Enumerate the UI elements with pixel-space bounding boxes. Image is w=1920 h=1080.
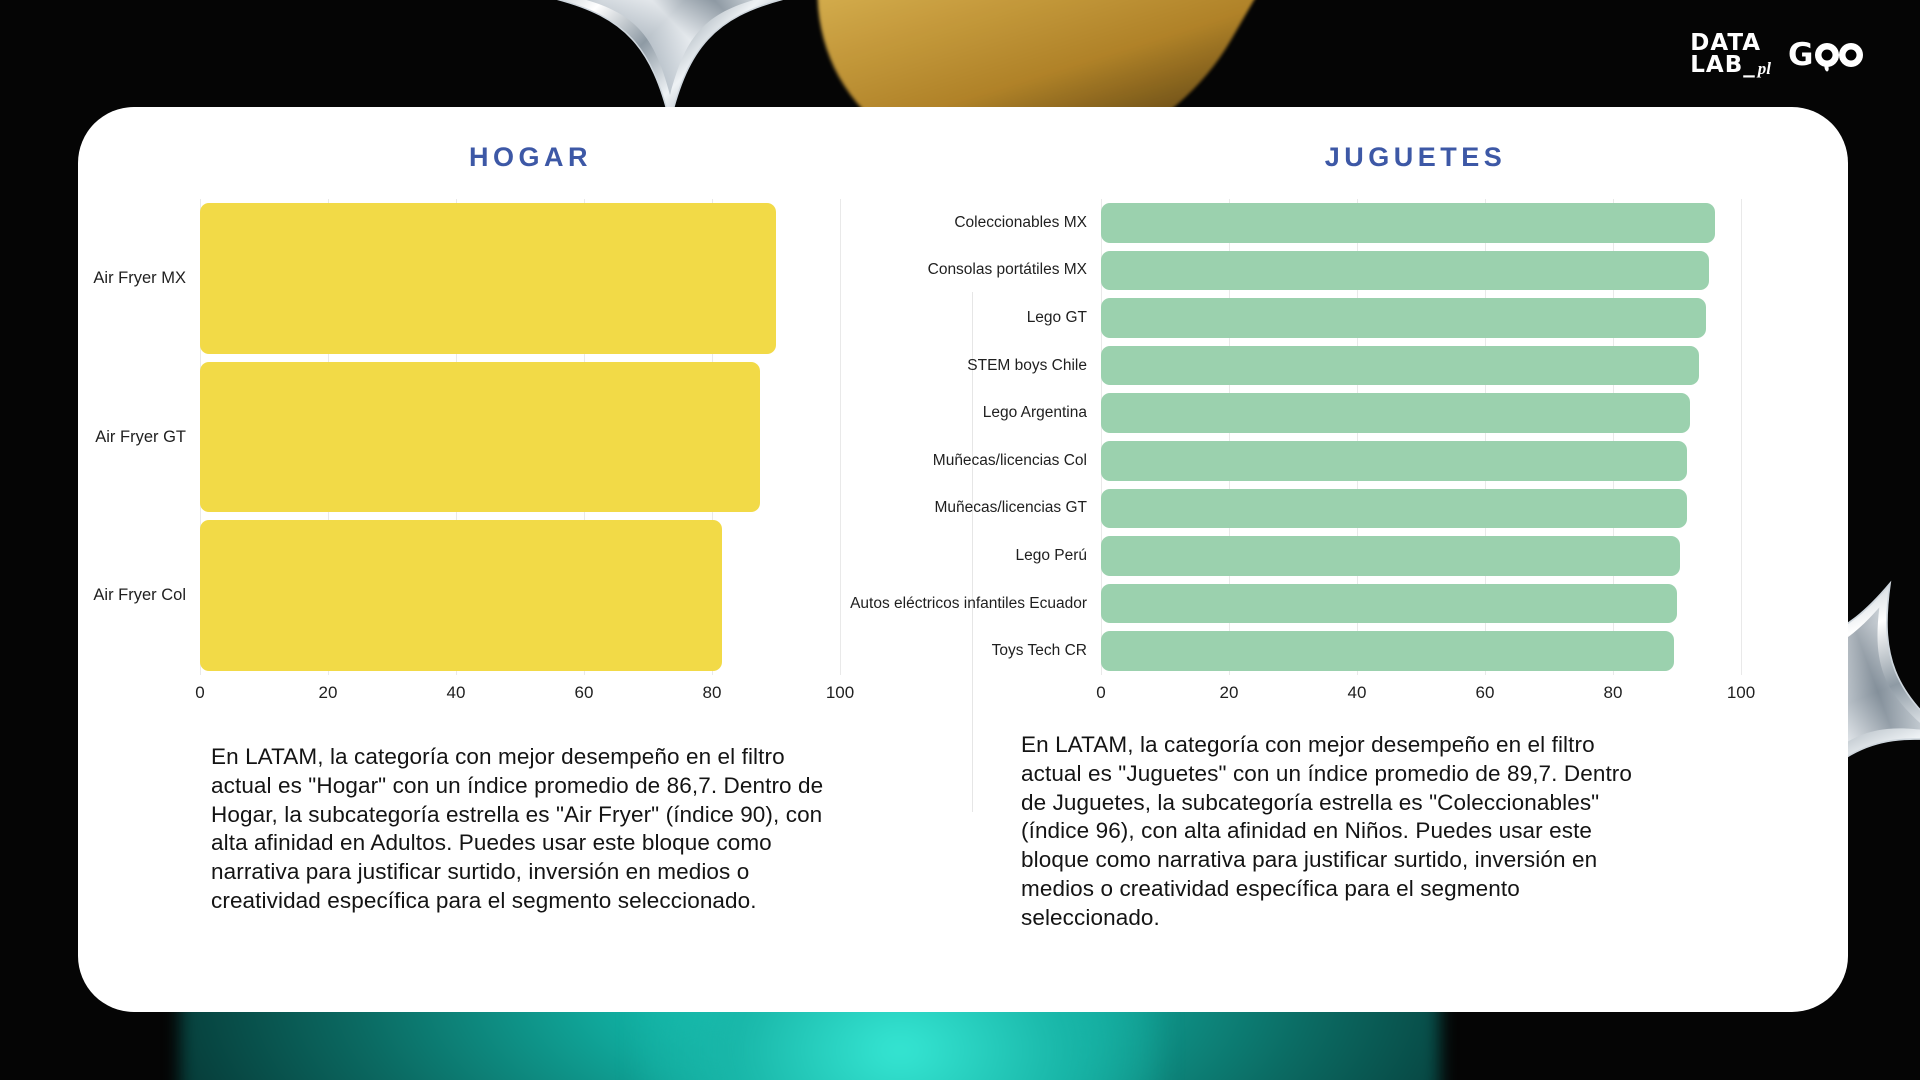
bar-juguetes[interactable] [1101, 298, 1706, 338]
bar-row[interactable]: Lego Perú [1101, 532, 1741, 580]
bar-juguetes[interactable] [1101, 251, 1709, 291]
bar-rows-hogar: Air Fryer MXAir Fryer GTAir Fryer Col [200, 199, 840, 675]
bar-category-label: Toys Tech CR [992, 642, 1087, 660]
bar-row[interactable]: Consolas portátiles MX [1101, 247, 1741, 295]
datalab-logo-line2-group: LAB_ pl [1690, 55, 1771, 77]
x-axis-tick-label: 40 [447, 683, 466, 703]
bar-row[interactable]: Coleccionables MX [1101, 199, 1741, 247]
x-axis-tick-label: 100 [1727, 683, 1755, 703]
bar-row[interactable]: Lego Argentina [1101, 389, 1741, 437]
bar-row[interactable]: Air Fryer MX [200, 199, 840, 358]
bar-hogar[interactable] [200, 203, 776, 354]
content-card: HOGAR Air Fryer MXAir Fryer GTAir Fryer … [78, 107, 1848, 1012]
datalab-logo: DATA LAB_ pl [1690, 33, 1771, 77]
bar-category-label: Coleccionables MX [954, 214, 1087, 232]
bar-category-label: Air Fryer MX [93, 269, 186, 288]
datalab-logo-line2: LAB_ [1690, 55, 1756, 77]
gridline [840, 199, 841, 675]
narrative-hogar: En LATAM, la categoría con mejor desempe… [211, 743, 841, 916]
chart-title-juguetes: JUGUETES [983, 142, 1848, 173]
bar-juguetes[interactable] [1101, 536, 1680, 576]
bar-row[interactable]: Autos eléctricos infantiles Ecuador [1101, 580, 1741, 628]
bar-row[interactable]: Air Fryer Col [200, 516, 840, 675]
bar-category-label: Consolas portátiles MX [928, 261, 1087, 279]
bar-juguetes[interactable] [1101, 203, 1715, 243]
chart-title-hogar: HOGAR [78, 142, 983, 173]
gridline [1741, 199, 1742, 675]
brand-logo: DATA LAB_ pl G [1690, 33, 1864, 77]
svg-text:G: G [1788, 38, 1813, 72]
x-axis-hogar: 020406080100 [200, 675, 840, 709]
x-axis-tick-label: 20 [1220, 683, 1239, 703]
x-axis-tick-label: 80 [1604, 683, 1623, 703]
bar-rows-juguetes: Coleccionables MXConsolas portátiles MXL… [1101, 199, 1741, 675]
bar-category-label: Autos eléctricos infantiles Ecuador [850, 595, 1087, 613]
bar-juguetes[interactable] [1101, 584, 1677, 624]
bar-category-label: STEM boys Chile [967, 357, 1087, 375]
x-axis-tick-label: 60 [575, 683, 594, 703]
bar-category-label: Muñecas/licencias GT [935, 499, 1087, 517]
bar-category-label: Lego Argentina [983, 404, 1087, 422]
bar-juguetes[interactable] [1101, 489, 1687, 529]
bar-category-label: Lego GT [1027, 309, 1087, 327]
bar-hogar[interactable] [200, 520, 722, 671]
panel-juguetes: JUGUETES Coleccionables MXConsolas portá… [983, 107, 1848, 1012]
panel-hogar: HOGAR Air Fryer MXAir Fryer GTAir Fryer … [78, 107, 983, 1012]
bar-category-label: Lego Perú [1015, 547, 1087, 565]
goo-logo-icon: G [1788, 38, 1864, 72]
bar-row[interactable]: STEM boys Chile [1101, 342, 1741, 390]
datalab-logo-suffix: pl [1758, 61, 1771, 77]
bar-row[interactable]: Toys Tech CR [1101, 627, 1741, 675]
chart-hogar: Air Fryer MXAir Fryer GTAir Fryer Col 02… [200, 199, 840, 709]
x-axis-tick-label: 0 [1096, 683, 1105, 703]
x-axis-tick-label: 100 [826, 683, 854, 703]
x-axis-juguetes: 020406080100 [1101, 675, 1741, 709]
x-axis-tick-label: 0 [195, 683, 204, 703]
bar-juguetes[interactable] [1101, 346, 1699, 386]
x-axis-tick-label: 40 [1348, 683, 1367, 703]
bar-category-label: Muñecas/licencias Col [933, 452, 1087, 470]
bar-row[interactable]: Muñecas/licencias GT [1101, 485, 1741, 533]
x-axis-tick-label: 20 [319, 683, 338, 703]
bar-category-label: Air Fryer GT [95, 428, 186, 447]
chart-juguetes: Coleccionables MXConsolas portátiles MXL… [1101, 199, 1741, 709]
bar-juguetes[interactable] [1101, 631, 1674, 671]
bar-juguetes[interactable] [1101, 393, 1690, 433]
bar-juguetes[interactable] [1101, 441, 1687, 481]
x-axis-tick-label: 80 [703, 683, 722, 703]
bar-category-label: Air Fryer Col [93, 586, 186, 605]
bar-row[interactable]: Muñecas/licencias Col [1101, 437, 1741, 485]
bar-row[interactable]: Air Fryer GT [200, 358, 840, 517]
bar-hogar[interactable] [200, 362, 760, 513]
bar-row[interactable]: Lego GT [1101, 294, 1741, 342]
narrative-juguetes: En LATAM, la categoría con mejor desempe… [1021, 731, 1646, 933]
x-axis-tick-label: 60 [1476, 683, 1495, 703]
slide-canvas: DATA LAB_ pl G HOGAR Air F [0, 0, 1920, 1080]
